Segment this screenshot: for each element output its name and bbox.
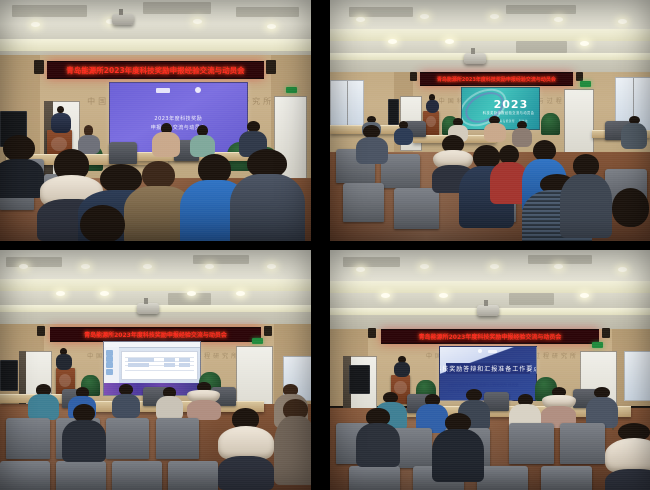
attendee [28, 384, 59, 420]
attendee [541, 387, 576, 428]
attendee-foreground [218, 408, 274, 490]
exit-sign-icon [286, 87, 297, 93]
ceiling-projector [464, 53, 486, 64]
attendee-foreground [432, 413, 483, 480]
attendee [187, 382, 221, 420]
attendee [152, 123, 180, 157]
photo-top-left: 中国科学院青岛生物能源与过程研究所 青岛能源所2023年度科技奖励申报经验交流与… [0, 0, 311, 241]
wall-monitor [0, 360, 18, 391]
led-banner-top-left: 青岛能源所2023年度科技奖励申报经验交流与动员会 [47, 61, 265, 79]
attendee-foreground [599, 188, 650, 241]
attendee-foreground [62, 404, 106, 462]
attendee [112, 384, 140, 418]
photo-bottom-right: 中国科学院青岛生物能源与过程研究所 青岛能源所2023年度科技奖励申报经验交流与… [330, 250, 650, 490]
led-banner-bottom-left: 青岛能源所2023年度科技奖励申报经验交流与动员会 [50, 327, 261, 342]
wall-monitor [349, 365, 370, 393]
attendee-foreground [356, 408, 401, 466]
attendee [190, 125, 215, 156]
screen-title: 科技奖励答辩和汇报准备工作要点 [439, 364, 537, 373]
screen-line-1: 2023年度科技奖励 [154, 115, 202, 122]
exit-sign-icon [252, 338, 263, 344]
speaker-bottom-right [394, 356, 410, 378]
ceiling-projector [112, 14, 134, 25]
institute-logo-icon [156, 88, 170, 93]
attendee [484, 116, 506, 143]
ceiling-projector [137, 303, 159, 314]
attendee [156, 387, 184, 421]
screen-line-1: 科技奖励申报经验交流与动员会 [483, 110, 535, 115]
speaker-top-right [426, 94, 439, 113]
led-banner-bottom-right: 青岛能源所2023年度科技奖励申报经验交流与动员会 [381, 329, 599, 344]
ceiling-projector [477, 305, 499, 316]
partner-logo-icon [488, 350, 497, 353]
photo-top-right: 中国科学院青岛生物能源与过程研究所 青岛能源所2023年度科技奖励申报经验交流与… [330, 0, 650, 241]
attendee-foreground [274, 399, 311, 485]
attendee [586, 387, 618, 428]
attendee-foreground [605, 423, 650, 490]
speaker-top-left [50, 106, 72, 133]
speaker-bottom-left [56, 348, 72, 370]
exit-sign-icon [592, 342, 603, 348]
attendee [621, 116, 647, 150]
attendee-foreground [230, 149, 305, 241]
partner-logo-icon [195, 87, 201, 93]
attendee-foreground [356, 125, 388, 164]
attendee [394, 121, 413, 145]
photo-bottom-left: 中国科学院青岛生物能源与过程研究所 青岛能源所2023年度科技奖励申报经验交流与… [0, 250, 311, 490]
led-banner-top-right: 青岛能源所2023年度科技奖励申报经验交流与动员会 [420, 72, 574, 86]
attendee-foreground [62, 205, 143, 241]
photo-collage: 中国科学院青岛生物能源与过程研究所 青岛能源所2023年度科技奖励申报经验交流与… [0, 0, 650, 490]
exit-sign-icon [580, 81, 591, 87]
institute-logo-icon [478, 349, 482, 353]
